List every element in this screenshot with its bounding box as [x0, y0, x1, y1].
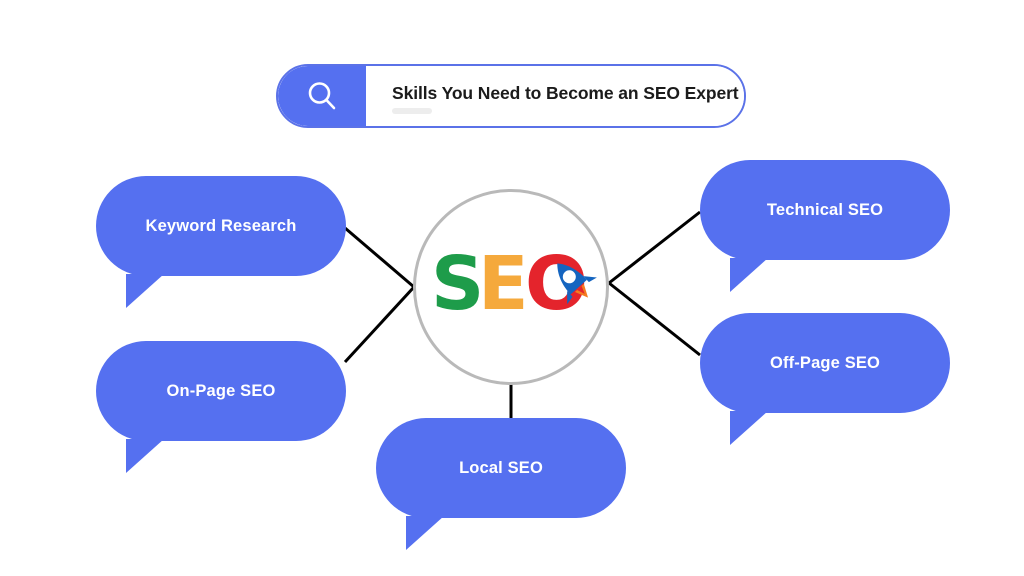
center-seo-circle: S E O — [413, 189, 609, 385]
connector-center-to-technical-seo — [609, 212, 700, 283]
bubble-label-technical-seo: Technical SEO — [767, 201, 883, 220]
search-input[interactable]: Skills You Need to Become an SEO Expert — [366, 66, 744, 126]
bubble-on-page-seo[interactable]: On-Page SEO — [96, 341, 346, 441]
search-title-text: Skills You Need to Become an SEO Expert — [392, 83, 739, 104]
connector-center-to-keyword-research — [345, 228, 414, 287]
bubble-tail-technical-seo — [730, 258, 768, 292]
connector-center-to-on-page-seo — [345, 287, 414, 362]
connector-center-to-off-page-seo — [609, 283, 700, 355]
infographic-canvas: Skills You Need to Become an SEO Expert … — [0, 0, 1024, 576]
bubble-tail-local-seo — [406, 516, 444, 550]
search-icon — [305, 79, 339, 113]
seo-logo-letter-e: E — [478, 247, 529, 321]
bubble-label-on-page-seo: On-Page SEO — [167, 382, 276, 401]
bubble-off-page-seo[interactable]: Off-Page SEO — [700, 313, 950, 413]
bubble-tail-on-page-seo — [126, 439, 164, 473]
bubble-keyword-research[interactable]: Keyword Research — [96, 176, 346, 276]
seo-logo-letter-s: S — [431, 247, 484, 321]
bubble-label-off-page-seo: Off-Page SEO — [770, 354, 880, 373]
bubble-tail-off-page-seo — [730, 411, 768, 445]
bubble-tail-keyword-research — [126, 274, 164, 308]
search-icon-pad[interactable] — [278, 66, 366, 126]
search-placeholder-bar — [392, 108, 432, 114]
search-bar[interactable]: Skills You Need to Become an SEO Expert — [276, 64, 746, 128]
bubble-technical-seo[interactable]: Technical SEO — [700, 160, 950, 260]
bubble-label-local-seo: Local SEO — [459, 459, 543, 478]
bubble-label-keyword-research: Keyword Research — [146, 217, 297, 236]
rocket-icon — [543, 251, 605, 313]
seo-logo: S E O — [431, 247, 591, 327]
bubble-local-seo[interactable]: Local SEO — [376, 418, 626, 518]
